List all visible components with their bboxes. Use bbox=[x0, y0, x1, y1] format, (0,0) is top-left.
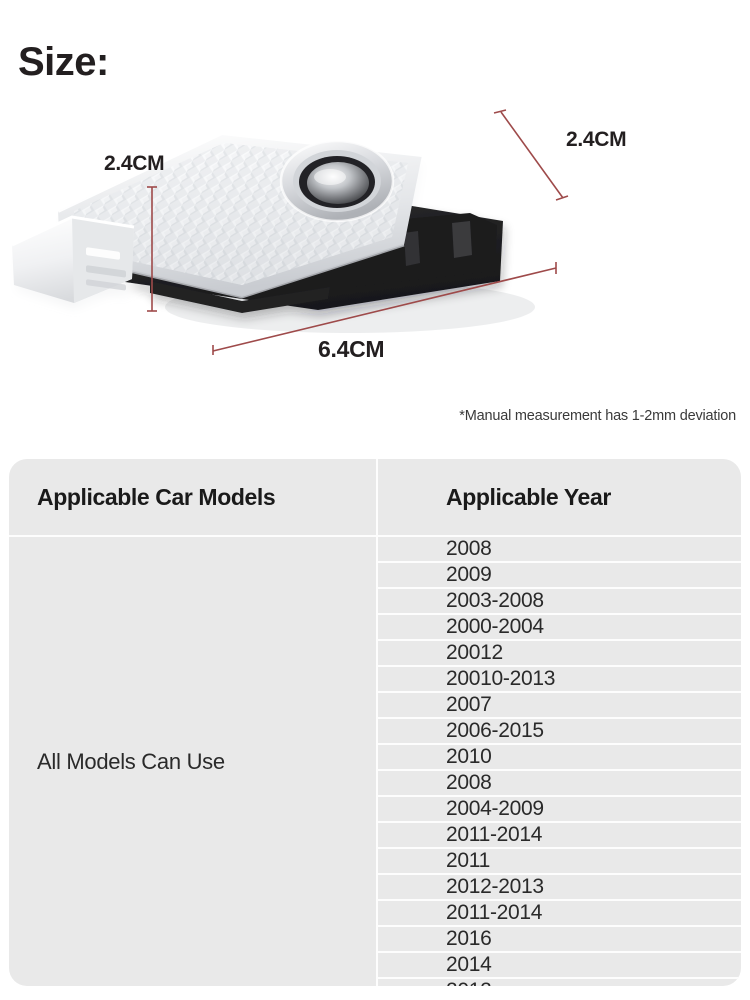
measurement-note: *Manual measurement has 1-2mm deviation bbox=[459, 408, 736, 424]
housing-tab-mid bbox=[404, 231, 420, 266]
cell-all-models: All Models Can Use bbox=[9, 537, 376, 986]
table-row: 2012 bbox=[378, 979, 741, 986]
table-row: 2011-2014 bbox=[378, 901, 741, 927]
header-car-models: Applicable Car Models bbox=[9, 459, 376, 537]
table-row: 20012 bbox=[378, 641, 741, 667]
table-row: 2012-2013 bbox=[378, 875, 741, 901]
product-body-group bbox=[12, 133, 503, 313]
column-years: Applicable Year 200820092003-20082000-20… bbox=[376, 459, 741, 986]
table-row: 2011 bbox=[378, 849, 741, 875]
table-row: 2007 bbox=[378, 693, 741, 719]
table-row: 2009 bbox=[378, 563, 741, 589]
dimension-label-height-left: 2.4CM bbox=[104, 152, 164, 176]
table-row: 20010-2013 bbox=[378, 667, 741, 693]
dimension-label-length: 6.4CM bbox=[318, 336, 384, 363]
table-row: 2006-2015 bbox=[378, 719, 741, 745]
table-row: 2008 bbox=[378, 771, 741, 797]
year-rows-container: 200820092003-20082000-20042001220010-201… bbox=[378, 537, 741, 986]
table-row: 2003-2008 bbox=[378, 589, 741, 615]
housing-tab-right bbox=[452, 221, 472, 258]
table-row: 2004-2009 bbox=[378, 797, 741, 823]
dimension-label-height-right: 2.4CM bbox=[566, 128, 626, 152]
table-row: 2011-2014 bbox=[378, 823, 741, 849]
table-row: 2010 bbox=[378, 745, 741, 771]
header-applicable-year: Applicable Year bbox=[378, 459, 741, 537]
compatibility-table: Applicable Car Models All Models Can Use… bbox=[9, 459, 741, 986]
page-title: Size: bbox=[18, 42, 109, 82]
table-row: 2016 bbox=[378, 927, 741, 953]
table-row: 2008 bbox=[378, 537, 741, 563]
projector-glass-highlight bbox=[314, 169, 346, 185]
table-row: 2000-2004 bbox=[378, 615, 741, 641]
column-car-models: Applicable Car Models All Models Can Use bbox=[9, 459, 376, 986]
table-row: 2014 bbox=[378, 953, 741, 979]
